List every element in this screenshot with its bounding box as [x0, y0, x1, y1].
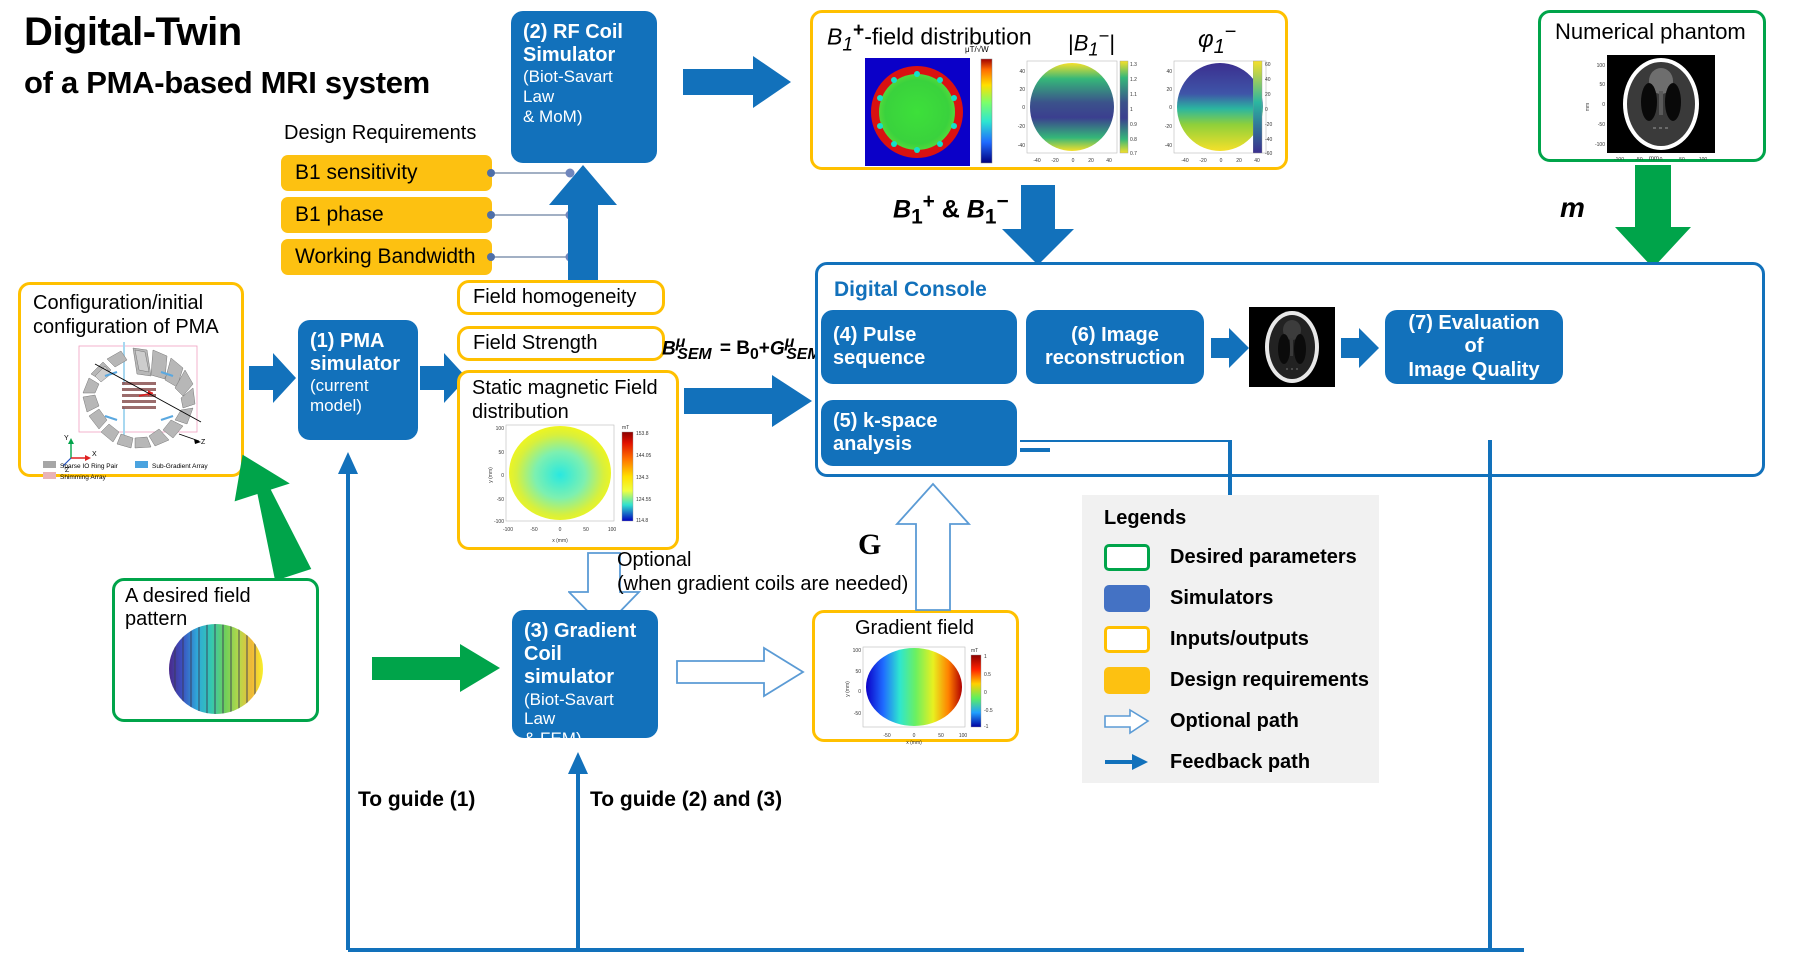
svg-text:0.9: 0.9	[1130, 122, 1137, 128]
output-field-strength: Field Strength	[457, 326, 665, 361]
legend-item-inputs-outputs: Inputs/outputs	[1082, 619, 1379, 660]
svg-text:1.1: 1.1	[1130, 92, 1137, 98]
svg-text:mm: mm	[1585, 103, 1591, 111]
legend-label: Feedback path	[1170, 751, 1310, 774]
svg-text:20: 20	[1088, 158, 1094, 164]
svg-text:40: 40	[1019, 69, 1025, 75]
requirement-label: B1 sensitivity	[295, 161, 418, 185]
static-field-label: Static magnetic Field distribution	[472, 377, 658, 424]
svg-text:100: 100	[1597, 63, 1606, 69]
phantom-image: 100500 -50-100 -100-500 50100 mm	[1581, 55, 1741, 160]
sim-title: (4) Pulse sequence	[833, 324, 1005, 370]
sim-sub-line2: model)	[310, 396, 406, 416]
legend-label: Inputs/outputs	[1170, 628, 1309, 651]
output-field-homogeneity: Field homogeneity	[457, 280, 665, 315]
to-guide-1-label: To guide (1)	[358, 788, 475, 812]
svg-text:1.2: 1.2	[1130, 77, 1137, 83]
b1-minus-panel-title: |B1−|	[1068, 25, 1115, 61]
feedback-paths	[330, 440, 1817, 960]
svg-text:0: 0	[1022, 105, 1025, 111]
svg-text:20: 20	[1019, 87, 1025, 93]
simulator-evaluation-image-quality[interactable]: (7) Evaluation of Image Quality	[1385, 310, 1563, 384]
svg-text:Shimming Array: Shimming Array	[60, 474, 107, 481]
arrow-outputs-to-console	[684, 374, 814, 428]
legend-swatch-feedback-arrow	[1104, 749, 1150, 776]
svg-text:1.3: 1.3	[1130, 62, 1137, 68]
m-label: m	[1560, 192, 1585, 224]
svg-text:-20: -20	[1165, 124, 1172, 130]
svg-text:-50: -50	[1635, 157, 1642, 160]
svg-text:-20: -20	[1199, 158, 1206, 164]
sim-title-line2: reconstruction	[1045, 347, 1185, 369]
svg-text:0: 0	[1072, 158, 1075, 164]
configuration-label-line2: configuration of PMA	[33, 316, 219, 338]
legends-panel: Legends Desired parameters Simulators In…	[1082, 495, 1379, 783]
sim-title-line1: (7) Evaluation of	[1408, 312, 1539, 357]
desired-field-pattern-box: A desired field pattern	[112, 578, 319, 722]
arrow-desired-to-pma-sim	[228, 450, 338, 590]
svg-text:20: 20	[1236, 158, 1242, 164]
configuration-label: Configuration/initial configuration of P…	[33, 291, 219, 339]
svg-text:-20: -20	[1051, 158, 1058, 164]
design-requirements-header: Design Requirements	[284, 122, 476, 145]
svg-text:20: 20	[1265, 92, 1271, 98]
pma-3d-model-image: Y X Z Z	[51, 340, 231, 472]
phi1-colorbar: 604020 0-20-40-60	[1253, 59, 1287, 167]
legend-item-design-requirements: Design requirements	[1082, 660, 1379, 701]
sim-title-line1: (2) RF Coil	[523, 21, 623, 43]
svg-text:1: 1	[1130, 107, 1133, 113]
phantom-xlabel: mm	[1649, 156, 1659, 162]
arrow-config-to-pma-sim	[249, 352, 297, 404]
reconstructed-image	[1249, 307, 1335, 387]
arrow-image-to-evaluation	[1341, 327, 1381, 369]
svg-text:-100: -100	[1595, 142, 1605, 148]
svg-text:-20: -20	[1265, 122, 1272, 128]
legend-label: Optional path	[1170, 710, 1299, 733]
b1-plus-panel-title: B1+-field distribution	[827, 20, 1032, 56]
svg-text:Sub-Gradient Array: Sub-Gradient Array	[152, 463, 208, 470]
legend-swatch-desired	[1104, 544, 1150, 571]
static-field-label-line2: distribution	[472, 401, 569, 423]
legend-item-optional-path: Optional path	[1082, 701, 1379, 742]
simulator-pma[interactable]: (1) PMA simulator (current model)	[298, 320, 418, 440]
svg-text:153.8: 153.8	[636, 431, 649, 437]
pma-model-legend: Sparse IO Ring Pair Sub-Gradient Array S…	[43, 460, 243, 482]
requirement-b1-phase[interactable]: B1 phase	[281, 197, 492, 233]
simulator-image-reconstruction[interactable]: (6) Image reconstruction	[1026, 310, 1204, 384]
b1-arrow-label: B1+ & B1−	[893, 190, 1009, 229]
svg-text:-40: -40	[1265, 137, 1272, 143]
svg-text:-60: -60	[1265, 151, 1272, 157]
svg-text:0: 0	[1265, 107, 1268, 113]
to-guide-23-label: To guide (2) and (3)	[590, 788, 782, 812]
numerical-phantom-box: Numerical phantom 100500 -50-100 -100-50…	[1538, 10, 1766, 162]
desired-field-pattern-image	[161, 621, 271, 717]
legend-swatch-optional-arrow	[1104, 708, 1150, 735]
legend-swatch-requirements	[1104, 667, 1150, 694]
legend-item-desired-parameters: Desired parameters	[1082, 537, 1379, 578]
sim-title-line2: Image Quality	[1408, 359, 1539, 381]
sim-title-line1: (6) Image	[1071, 324, 1159, 346]
requirement-label: Working Bandwidth	[295, 245, 476, 269]
svg-text:20: 20	[1166, 87, 1172, 93]
legend-label: Design requirements	[1170, 669, 1369, 692]
legend-swatch-io	[1104, 626, 1150, 653]
output-label: Field Strength	[473, 332, 598, 355]
legend-label: Simulators	[1170, 587, 1273, 610]
svg-text:40: 40	[1106, 158, 1112, 164]
svg-text:0: 0	[1169, 105, 1172, 111]
b1-minus-colorbar-ticks: 1.31.21.1 10.90.80.7	[1129, 59, 1159, 167]
requirement-working-bandwidth[interactable]: Working Bandwidth	[281, 239, 492, 275]
configuration-label-line1: Configuration/initial	[33, 292, 203, 314]
sim-title-line2: simulator	[310, 353, 400, 375]
sim-sub-line1: (current	[310, 376, 406, 396]
arrow-rf-coil-to-b1-panel	[683, 55, 793, 109]
legends-title: Legends	[1104, 507, 1186, 530]
sim-sub-line2: & MoM)	[523, 107, 645, 127]
svg-text:40: 40	[1166, 69, 1172, 75]
svg-text:60: 60	[1265, 62, 1271, 68]
requirement-label: B1 phase	[295, 203, 384, 227]
arrow-b1-to-console	[1000, 185, 1076, 267]
svg-text:40: 40	[1265, 77, 1271, 83]
b1-plus-colorbar	[973, 57, 999, 167]
arrow-recon-to-image	[1211, 327, 1251, 369]
svg-text:-100: -100	[1614, 157, 1624, 160]
svg-text:0.7: 0.7	[1130, 151, 1137, 157]
digital-console-title: Digital Console	[834, 278, 987, 302]
svg-text:X: X	[92, 451, 97, 458]
svg-text:-20: -20	[1018, 124, 1025, 130]
svg-text:100: 100	[1699, 157, 1708, 160]
sim-title: (7) Evaluation of Image Quality	[1397, 312, 1551, 382]
legend-label: Desired parameters	[1170, 546, 1357, 569]
svg-text:100: 100	[496, 426, 505, 432]
phi1-panel-title: φ1−	[1198, 21, 1236, 59]
svg-text:0: 0	[1602, 102, 1605, 108]
svg-text:0: 0	[1660, 157, 1663, 160]
svg-text:0: 0	[1220, 158, 1223, 164]
svg-text:0.8: 0.8	[1130, 137, 1137, 143]
arrow-phantom-to-console	[1613, 165, 1693, 270]
page-title: Digital-Twin	[24, 10, 242, 55]
sem-equation: BμSEM = B0+GμSEM	[662, 334, 821, 364]
svg-text:Sparse IO Ring Pair: Sparse IO Ring Pair	[60, 463, 119, 470]
svg-text:-40: -40	[1033, 158, 1040, 164]
svg-text:-40: -40	[1181, 158, 1188, 164]
svg-text:Y: Y	[64, 435, 69, 442]
svg-text:-40: -40	[1018, 143, 1025, 149]
sim-sub-line1: (Biot-Savart Law	[523, 67, 645, 106]
static-field-label-line1: Static magnetic Field	[472, 377, 658, 399]
arrow-requirements-to-rf-coil	[547, 163, 619, 283]
b1-plus-field-image	[865, 58, 970, 166]
b1-field-panel: B1+-field distribution |B1−| φ1− μT/√W	[810, 10, 1288, 170]
svg-text:-50: -50	[1598, 122, 1605, 128]
b1-plus-colorbar-unit: μT/√W	[965, 45, 989, 54]
legend-item-feedback-path: Feedback path	[1082, 742, 1379, 783]
svg-text:Z: Z	[201, 439, 206, 446]
requirement-b1-sensitivity[interactable]: B1 sensitivity	[281, 155, 492, 191]
svg-text:mT: mT	[622, 425, 629, 431]
b1-minus-field-plot: 40200 -20-40 -40-200 2040	[1013, 59, 1131, 167]
legend-item-simulators: Simulators	[1082, 578, 1379, 619]
svg-text:-40: -40	[1165, 143, 1172, 149]
legend-swatch-simulators	[1104, 585, 1150, 612]
sim-title-line1: (1) PMA	[310, 330, 384, 352]
simulator-pulse-sequence[interactable]: (4) Pulse sequence	[821, 310, 1017, 384]
page-subtitle: of a PMA-based MRI system	[24, 65, 430, 101]
numerical-phantom-label: Numerical phantom	[1555, 19, 1746, 45]
configuration-pma-box: Configuration/initial configuration of P…	[18, 282, 244, 477]
simulator-rf-coil[interactable]: (2) RF Coil Simulator (Biot-Savart Law &…	[511, 11, 657, 163]
sim-title-line2: Simulator	[523, 44, 615, 66]
svg-text:50: 50	[1679, 157, 1685, 160]
sim-title: (6) Image reconstruction	[1045, 324, 1185, 370]
svg-text:50: 50	[1599, 82, 1605, 88]
output-label: Field homogeneity	[473, 286, 636, 309]
